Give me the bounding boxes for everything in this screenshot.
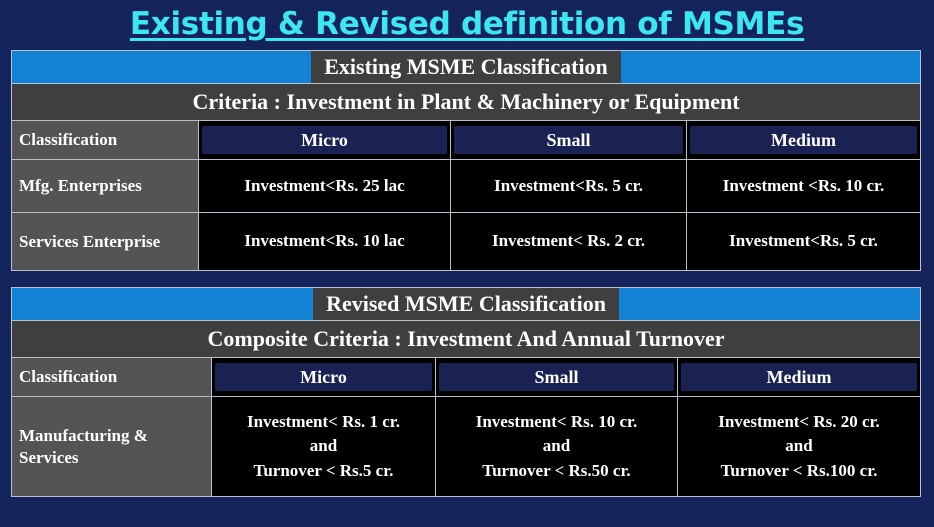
existing-header-medium-label: Medium <box>690 126 917 154</box>
existing-banner-label: Existing MSME Classification <box>311 51 621 83</box>
existing-msme-table: Existing MSME Classification Criteria : … <box>11 50 921 271</box>
existing-row1-small-line0: Investment< Rs. 2 cr. <box>451 229 686 254</box>
revised-row0-small-line2: Turnover < Rs.50 cr. <box>436 459 677 484</box>
table-row: Manufacturing & Services Investment< Rs.… <box>12 397 921 497</box>
revised-banner-row: Revised MSME Classification <box>12 288 921 321</box>
existing-criteria-row: Criteria : Investment in Plant & Machine… <box>12 84 921 121</box>
existing-header-micro-label: Micro <box>202 126 447 154</box>
revised-header-small: Small <box>436 358 678 397</box>
existing-row1-small: Investment< Rs. 2 cr. <box>451 213 687 271</box>
slide-root: Existing & Revised definition of MSMEs E… <box>0 0 934 527</box>
revised-header-medium-label: Medium <box>681 363 917 391</box>
existing-row0-small: Investment<Rs. 5 cr. <box>451 160 687 213</box>
existing-header-small-label: Small <box>454 126 683 154</box>
revised-header-micro-label: Micro <box>215 363 432 391</box>
revised-criteria-label: Composite Criteria : Investment And Annu… <box>12 321 921 358</box>
revised-row0-small-line0: Investment< Rs. 10 cr. <box>436 410 677 435</box>
existing-row1-micro: Investment<Rs. 10 lac <box>199 213 451 271</box>
existing-row1-label-line0: Services <box>19 232 78 251</box>
revised-header-micro: Micro <box>212 358 436 397</box>
revised-header-row: Classification Micro Small Medium <box>12 358 921 397</box>
revised-row0-micro-line2: Turnover < Rs.5 cr. <box>212 459 435 484</box>
existing-header-medium: Medium <box>687 121 921 160</box>
revised-row0-micro: Investment< Rs. 1 cr. and Turnover < Rs.… <box>212 397 436 497</box>
existing-banner-row: Existing MSME Classification <box>12 51 921 84</box>
revised-criteria-row: Composite Criteria : Investment And Annu… <box>12 321 921 358</box>
revised-header-classification: Classification <box>12 358 212 397</box>
existing-row0-label: Mfg. Enterprises <box>12 160 199 213</box>
existing-criteria-label: Criteria : Investment in Plant & Machine… <box>12 84 921 121</box>
revised-row0-medium: Investment< Rs. 20 cr. and Turnover < Rs… <box>678 397 921 497</box>
revised-header-medium: Medium <box>678 358 921 397</box>
revised-banner-cell: Revised MSME Classification <box>12 288 921 321</box>
table-row: Services Enterprise Investment<Rs. 10 la… <box>12 213 921 271</box>
revised-row0-medium-line2: Turnover < Rs.100 cr. <box>678 459 920 484</box>
page-title: Existing & Revised definition of MSMEs <box>130 6 804 42</box>
revised-row0-micro-line0: Investment< Rs. 1 cr. <box>212 410 435 435</box>
existing-header-classification: Classification <box>12 121 199 160</box>
revised-row0-label-line0: Manufacturing <box>19 426 130 445</box>
revised-row0-label: Manufacturing & Services <box>12 397 212 497</box>
table-row: Mfg. Enterprises Investment<Rs. 25 lac I… <box>12 160 921 213</box>
revised-row0-medium-line1: and <box>678 434 920 459</box>
revised-header-small-label: Small <box>439 363 674 391</box>
revised-banner-label: Revised MSME Classification <box>313 288 619 320</box>
revised-row0-medium-line0: Investment< Rs. 20 cr. <box>678 410 920 435</box>
existing-row1-label-line1: Enterprise <box>83 232 160 251</box>
revised-row0-small-line1: and <box>436 434 677 459</box>
existing-row1-label: Services Enterprise <box>12 213 199 271</box>
existing-header-micro: Micro <box>199 121 451 160</box>
page-title-container: Existing & Revised definition of MSMEs <box>0 0 934 48</box>
existing-row0-micro-line0: Investment<Rs. 25 lac <box>199 174 450 199</box>
existing-row0-small-line0: Investment<Rs. 5 cr. <box>451 174 686 199</box>
existing-row0-micro: Investment<Rs. 25 lac <box>199 160 451 213</box>
existing-row1-micro-line0: Investment<Rs. 10 lac <box>199 229 450 254</box>
existing-header-row: Classification Micro Small Medium <box>12 121 921 160</box>
existing-row1-medium-line0: Investment<Rs. 5 cr. <box>687 229 920 254</box>
revised-row0-micro-line1: and <box>212 434 435 459</box>
existing-banner-cell: Existing MSME Classification <box>12 51 921 84</box>
revised-row0-small: Investment< Rs. 10 cr. and Turnover < Rs… <box>436 397 678 497</box>
existing-row0-medium-line0: Investment <Rs. 10 cr. <box>687 174 920 199</box>
existing-header-small: Small <box>451 121 687 160</box>
existing-row0-medium: Investment <Rs. 10 cr. <box>687 160 921 213</box>
revised-msme-table: Revised MSME Classification Composite Cr… <box>11 287 921 497</box>
existing-row1-medium: Investment<Rs. 5 cr. <box>687 213 921 271</box>
